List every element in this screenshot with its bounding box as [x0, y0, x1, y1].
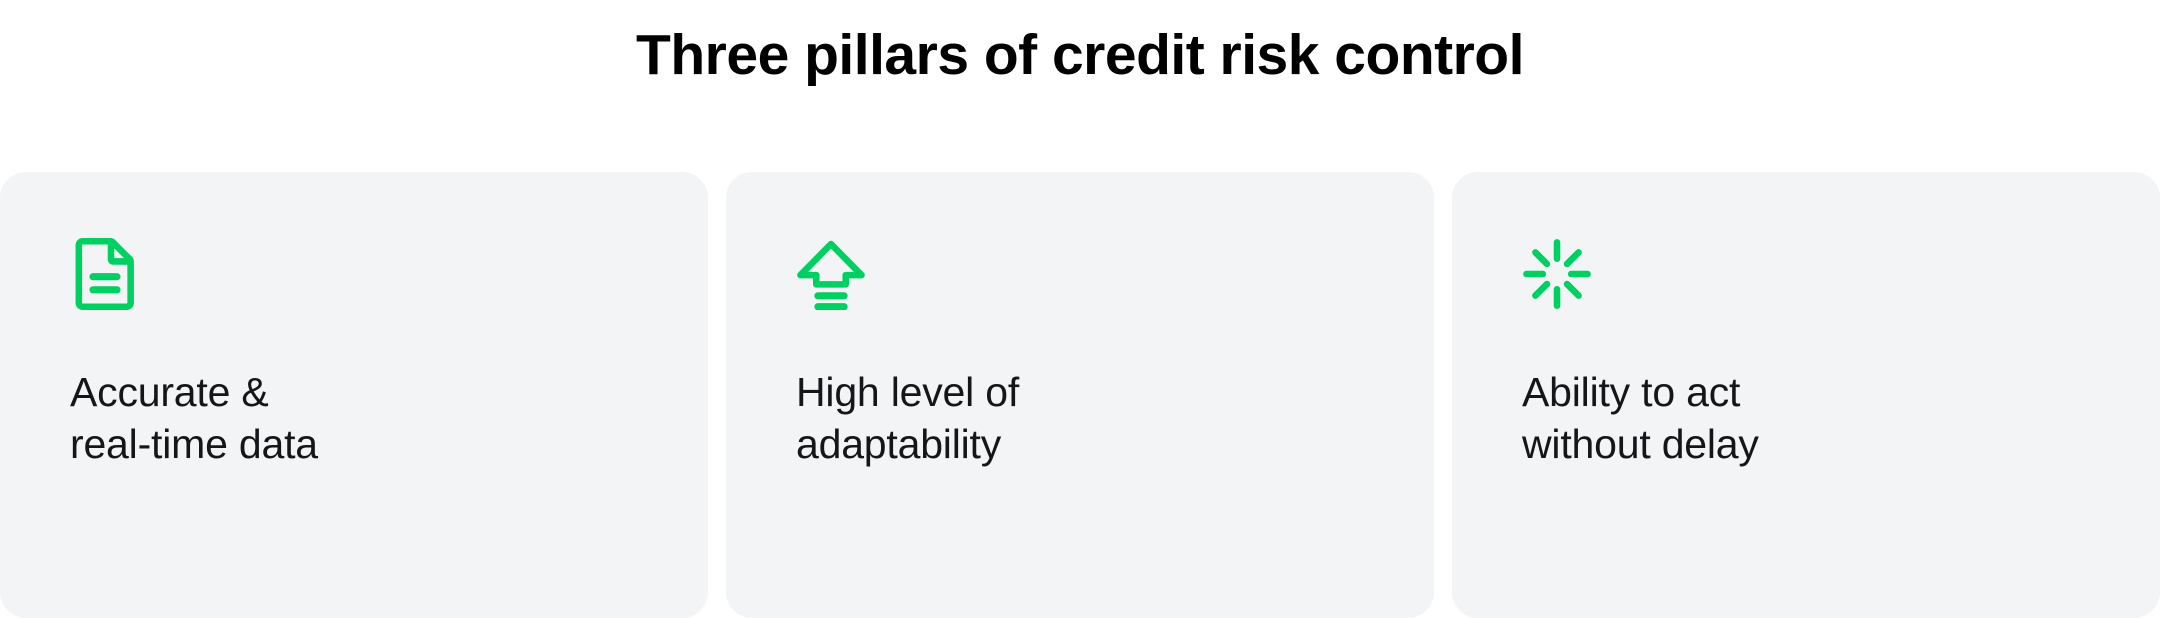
pillar-card-high-level-of-adaptability[interactable]: High level of adaptability — [726, 172, 1434, 618]
pillar-card-label: Accurate & real-time data — [70, 366, 708, 471]
upload-arrow-icon — [796, 238, 866, 310]
pillar-card-list: Accurate & real-time data High level of … — [0, 172, 2160, 618]
pillar-card-accurate-realtime-data[interactable]: Accurate & real-time data — [0, 172, 708, 618]
pillar-card-label: High level of adaptability — [796, 366, 1434, 471]
page-title-text: Three pillars of credit risk control — [636, 24, 1524, 87]
pillar-card-label: Ability to act without delay — [1522, 366, 2160, 471]
document-lines-icon — [70, 238, 140, 310]
burst-spinner-icon — [1522, 238, 1592, 310]
pillar-card-ability-to-act-without-delay[interactable]: Ability to act without delay — [1452, 172, 2160, 618]
infographic-page: Three pillars of credit risk control Acc… — [0, 0, 2160, 618]
page-title: Three pillars of credit risk control — [0, 0, 2160, 128]
